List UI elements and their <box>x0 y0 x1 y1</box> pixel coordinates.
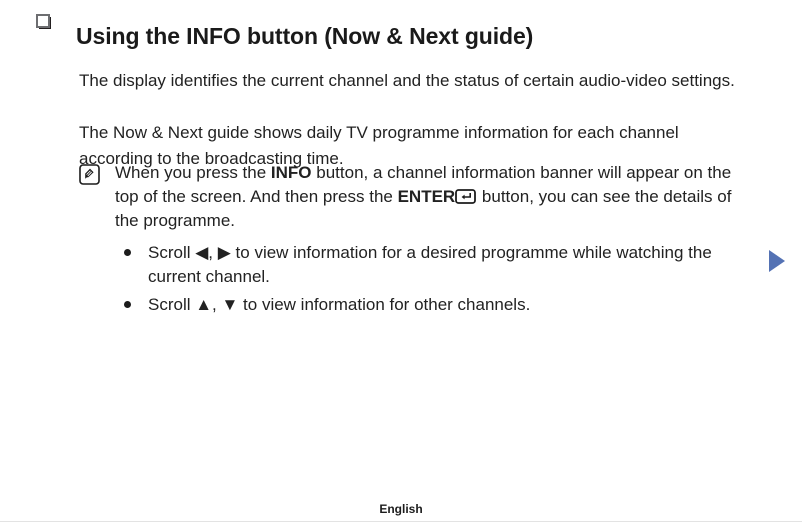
next-page-arrow-icon[interactable] <box>769 250 785 272</box>
page-title: Using the INFO button (Now & Next guide) <box>76 21 533 51</box>
footer-language-label: English <box>0 502 802 516</box>
note-block: When you press the INFO button, a channe… <box>79 161 755 233</box>
note-text: When you press the INFO button, a channe… <box>115 161 755 233</box>
note-pencil-icon <box>79 164 100 185</box>
note-emphasis-enter: ENTER <box>398 187 456 206</box>
list-item-label: Scroll ◀, ▶ to view information for a de… <box>148 243 712 286</box>
bullet-list: Scroll ◀, ▶ to view information for a de… <box>120 241 760 321</box>
note-text-part-1: When you press the <box>115 163 271 182</box>
bullet-dot-icon <box>124 249 131 256</box>
body-paragraph-1: The display identifies the current chann… <box>79 68 755 94</box>
list-item: Scroll ◀, ▶ to view information for a de… <box>120 241 760 289</box>
document-page: Using the INFO button (Now & Next guide)… <box>0 0 802 525</box>
list-item-label: Scroll ▲, ▼ to view information for othe… <box>148 295 530 314</box>
note-emphasis-info: INFO <box>271 163 312 182</box>
footer-divider <box>0 521 802 522</box>
list-item: Scroll ▲, ▼ to view information for othe… <box>120 293 760 317</box>
page-title-row: Using the INFO button (Now & Next guide) <box>36 6 762 67</box>
enter-return-key-icon <box>455 189 476 204</box>
checkbox-square-icon <box>36 14 51 29</box>
bullet-dot-icon <box>124 301 131 308</box>
